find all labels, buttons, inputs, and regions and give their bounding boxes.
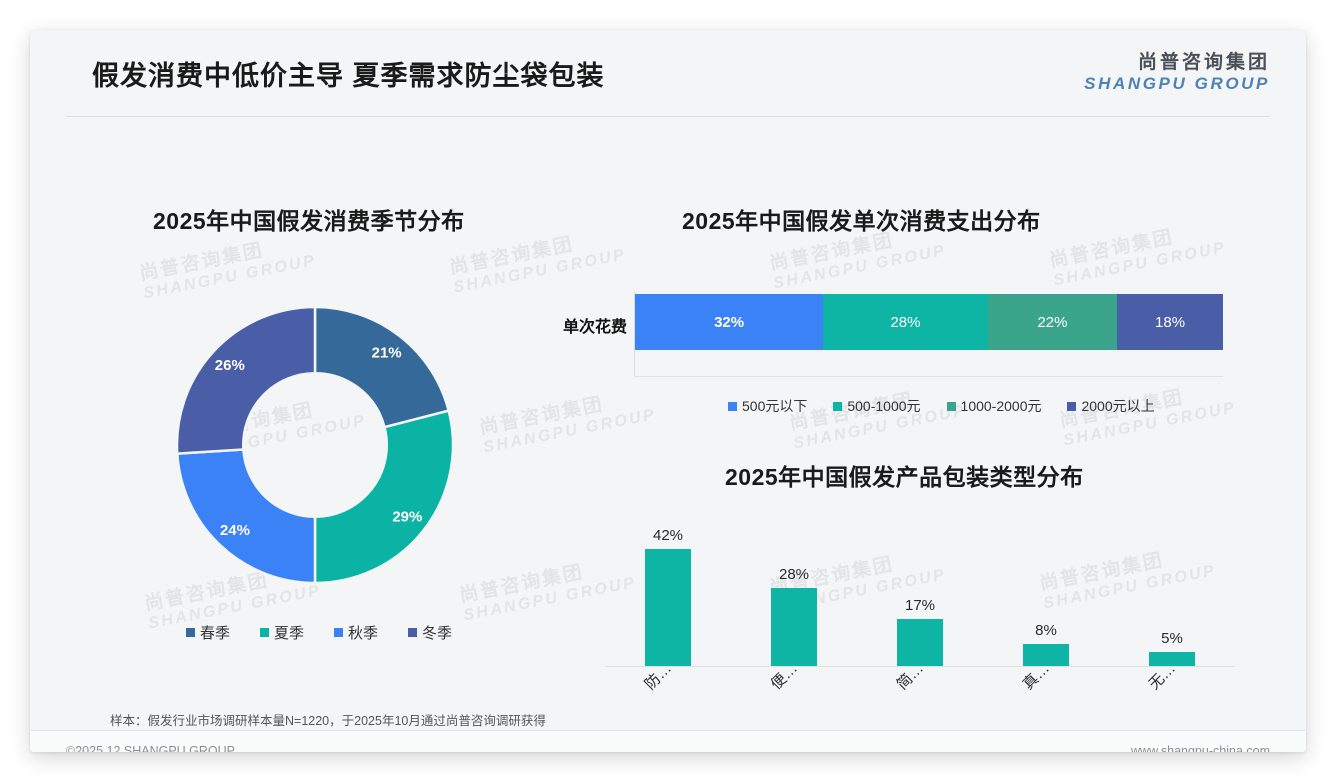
donut-slice <box>177 450 315 583</box>
donut-chart: 21%29%24%26% <box>145 280 485 610</box>
legend-label: 2000元以上 <box>1081 396 1154 416</box>
stacked-bar-series: 32%28%22%18% <box>635 294 1223 350</box>
donut-slice <box>177 307 315 454</box>
column-bar <box>1023 644 1069 666</box>
column-bar-group: 42% <box>605 514 731 666</box>
legend-item[interactable]: 秋季 <box>334 622 378 643</box>
column-bar <box>771 588 817 666</box>
logo-english-text: SHANGPU GROUP <box>1084 74 1270 94</box>
stacked-bar-category-label: 单次花费 <box>530 313 627 337</box>
column-chart-plot: 42%28%17%8%5% <box>605 514 1235 666</box>
column-chart-tick-labels: 防…便…简…真…无… <box>605 668 1235 714</box>
donut-slice-label: 21% <box>372 345 402 362</box>
stacked-bar-chart: 单次花费 32%28%22%18% <box>530 292 1230 387</box>
donut-slice-label: 24% <box>220 522 250 539</box>
column-tick-group: 无… <box>1109 668 1235 714</box>
slide-card: 尚普咨询集团SHANGPU GROUP 尚普咨询集团SHANGPU GROUP … <box>30 30 1306 752</box>
watermark-en: SHANGPU GROUP <box>482 406 658 456</box>
footer-divider <box>30 730 1306 731</box>
watermark-cn: 尚普咨询集团 <box>1048 219 1224 273</box>
legend-swatch-icon <box>1067 402 1076 411</box>
column-tick-group: 防… <box>605 668 731 714</box>
column-bar-group: 5% <box>1109 514 1235 666</box>
column-chart-title: 2025年中国假发产品包装类型分布 <box>725 458 1084 492</box>
watermark-cn: 尚普咨询集团 <box>478 386 654 440</box>
legend-label: 春季 <box>200 622 230 643</box>
column-bar <box>897 619 943 666</box>
brand-logo: 尚普咨询集团 SHANGPU GROUP <box>1084 52 1270 93</box>
donut-slice <box>315 411 453 583</box>
website-text: www.shangpu-china.com <box>1131 744 1270 752</box>
legend-label: 冬季 <box>422 622 452 643</box>
column-tick-group: 便… <box>731 668 857 714</box>
column-bar-group: 28% <box>731 514 857 666</box>
legend-item[interactable]: 1000-2000元 <box>947 396 1042 416</box>
column-bar-group: 17% <box>857 514 983 666</box>
stacked-bar-title: 2025年中国假发单次消费支出分布 <box>682 202 1041 236</box>
donut-svg: 21%29%24%26% <box>145 280 485 610</box>
column-bar-value-label: 5% <box>1161 630 1183 647</box>
stacked-bar-legend: 500元以下500-1000元1000-2000元2000元以上 <box>728 396 1181 416</box>
watermark-cn: 尚普咨询集团 <box>138 232 314 286</box>
legend-label: 夏季 <box>274 622 304 643</box>
column-bar-value-label: 42% <box>653 527 683 544</box>
legend-label: 500-1000元 <box>847 396 920 416</box>
stacked-bar-baseline <box>634 376 1223 377</box>
donut-chart-title: 2025年中国假发消费季节分布 <box>153 202 465 236</box>
column-chart: 42%28%17%8%5% 防…便…简…真…无… <box>605 514 1235 714</box>
legend-swatch-icon <box>728 402 737 411</box>
stacked-bar-segment: 28% <box>823 294 988 350</box>
stacked-bar-segment: 22% <box>988 294 1117 350</box>
watermark-cn: 尚普咨询集团 <box>448 226 624 280</box>
slide-header: 假发消费中低价主导 夏季需求防尘袋包装 尚普咨询集团 SHANGPU GROUP <box>30 30 1306 116</box>
column-bar-value-label: 8% <box>1035 622 1057 639</box>
legend-item[interactable]: 500-1000元 <box>833 396 920 416</box>
logo-chinese-text: 尚普咨询集团 <box>1084 52 1270 74</box>
legend-label: 500元以下 <box>742 396 807 416</box>
column-bar <box>645 549 691 666</box>
legend-item[interactable]: 春季 <box>186 622 230 643</box>
column-tick-group: 真… <box>983 668 1109 714</box>
donut-slice-label: 29% <box>392 509 422 526</box>
page-title: 假发消费中低价主导 夏季需求防尘袋包装 <box>92 54 605 93</box>
column-bar-value-label: 28% <box>779 566 809 583</box>
stacked-bar-segment: 32% <box>635 294 823 350</box>
legend-label: 秋季 <box>348 622 378 643</box>
copyright-text: ©2025.12 SHANGPU GROUP <box>66 744 235 752</box>
watermark-en: SHANGPU GROUP <box>1052 239 1228 289</box>
donut-legend: 春季夏季秋季冬季 <box>186 622 482 643</box>
column-bar-group: 8% <box>983 514 1109 666</box>
donut-slice <box>315 307 449 427</box>
legend-swatch-icon <box>334 628 343 637</box>
legend-swatch-icon <box>833 402 842 411</box>
legend-swatch-icon <box>408 628 417 637</box>
header-divider <box>66 116 1270 117</box>
watermark-en: SHANGPU GROUP <box>772 242 948 292</box>
column-bar-value-label: 17% <box>905 597 935 614</box>
legend-item[interactable]: 夏季 <box>260 622 304 643</box>
column-bar <box>1149 652 1195 666</box>
stacked-bar-segment: 18% <box>1117 294 1223 350</box>
legend-item[interactable]: 冬季 <box>408 622 452 643</box>
legend-swatch-icon <box>947 402 956 411</box>
legend-label: 1000-2000元 <box>961 396 1042 416</box>
legend-swatch-icon <box>186 628 195 637</box>
donut-slices <box>177 307 453 583</box>
legend-item[interactable]: 500元以下 <box>728 396 807 416</box>
column-tick-group: 简… <box>857 668 983 714</box>
legend-item[interactable]: 2000元以上 <box>1067 396 1154 416</box>
donut-slice-label: 26% <box>215 357 245 374</box>
legend-swatch-icon <box>260 628 269 637</box>
